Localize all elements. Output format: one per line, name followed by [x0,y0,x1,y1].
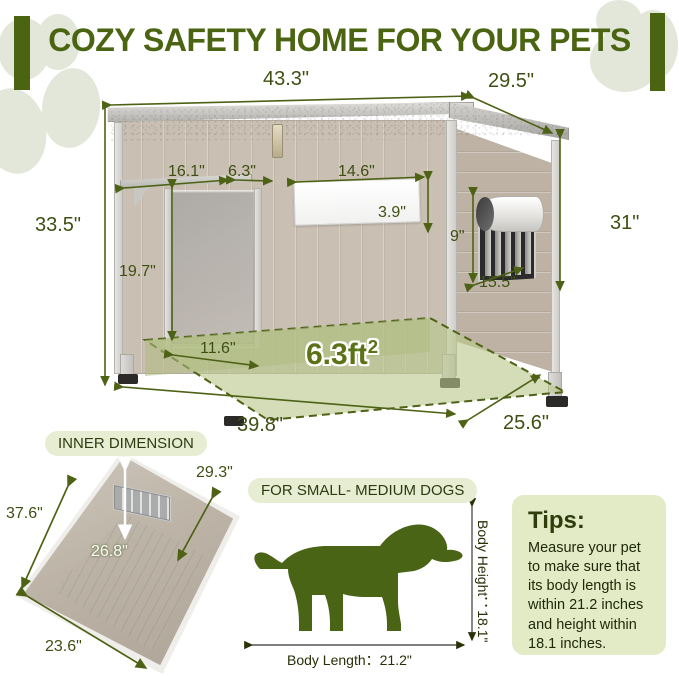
inner-dimension-label: INNER DIMENSION [45,431,207,456]
dog-size-label: FOR SMALL- MEDIUM DOGS [248,478,477,503]
dim-window-height: 9" [450,228,465,246]
dim-plate-height: 3.9" [378,204,406,222]
tips-heading: Tips: [528,507,652,535]
floor-area-value: 6.3ft [306,338,368,371]
dog-silhouette-icon [248,505,466,641]
infographic-canvas: COZY SAFETY HOME FOR YOUR PETS [0,0,679,676]
dim-awning-overhang: 6.3" [228,163,256,181]
dim-base-width: 39.8" [237,414,283,437]
dim-inner-length: 37.6" [6,505,43,523]
dim-inner-front-width: 23.6" [45,638,82,656]
dim-inner-height: 26.8" [91,543,128,561]
floor-area-exponent: 2 [368,336,378,357]
dim-roof-width: 43.3" [263,68,309,91]
dim-roof-depth: 29.5" [488,70,534,93]
dog-body-height-label: Body Height：18.1" [473,520,493,643]
dim-door-width: 11.6" [200,340,236,358]
dim-side-height: 31" [610,212,639,235]
dim-inner-side-depth: 29.3" [196,464,233,482]
tips-body: Measure your pet to make sure that its b… [528,539,652,654]
dog-body-length-label: Body Length：21.2" [287,650,412,670]
dim-awning-width: 16.1" [168,163,205,181]
dim-door-height: 19.7" [119,263,156,281]
tips-card: Tips: Measure your pet to make sure that… [512,495,666,655]
dim-base-depth: 25.6" [503,412,549,435]
dim-overall-height: 33.5" [35,214,81,237]
dim-window-width: 15.5" [479,274,516,292]
floor-area-label: 6.3ft2 [306,336,378,372]
dim-plate-width: 14.6" [338,163,375,181]
